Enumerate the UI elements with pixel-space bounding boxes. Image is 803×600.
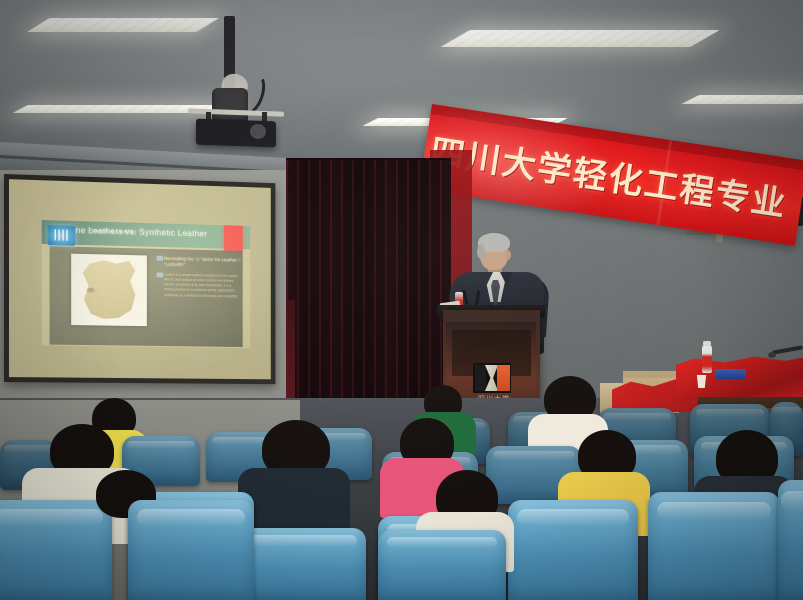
auditorium-seat <box>128 500 254 600</box>
slide-bullet-icon <box>157 273 163 278</box>
blue-box <box>715 369 746 379</box>
bottle-cap <box>703 341 711 346</box>
microphone-head-icon <box>476 284 485 291</box>
leather-hide-mark <box>87 288 95 293</box>
water-bottle <box>702 345 712 373</box>
auditorium-seat <box>648 492 780 600</box>
speaker-hair-side <box>477 244 485 259</box>
slide-subtitle: Promoting Leather <box>88 228 136 235</box>
leather-hide-image <box>71 253 147 326</box>
ceiling-light-icon <box>681 95 803 104</box>
presentation-slide: Genuine Leathers vs. Synthetic Leather P… <box>41 220 250 349</box>
microphone-head-icon <box>768 352 776 358</box>
slide-body-text: Leather is a unique material designed by… <box>164 272 240 299</box>
auditorium-seat <box>0 500 112 600</box>
slide-accent-block <box>224 225 242 251</box>
lecture-hall-photo: 四川大学轻化工程专业 “卓越 Genuine Leathers vs. Synt… <box>0 0 803 600</box>
logo-orange-bar <box>497 365 510 391</box>
auditorium-seat <box>778 480 803 600</box>
projector-lens-icon <box>250 124 266 139</box>
projection-screen: Genuine Leathers vs. Synthetic Leather P… <box>4 174 275 384</box>
ceiling-light-icon <box>27 18 219 32</box>
auditorium-seat <box>236 528 366 600</box>
ceiling-light-icon <box>440 30 719 47</box>
cardboard-box-flap <box>623 371 679 378</box>
stage-curtain <box>286 160 451 415</box>
auditorium-seat <box>378 530 506 600</box>
microphone-head-icon <box>458 282 468 290</box>
slide-bullet-icon <box>157 256 163 261</box>
auditorium-seat <box>508 500 638 600</box>
slide-callout-heading: Recreating the "L" factor for Leather = … <box>164 255 242 270</box>
logo-black-bar <box>475 365 486 391</box>
speaker-ear <box>505 250 511 260</box>
blue-graph-icon <box>48 225 76 246</box>
screen-surface: Genuine Leathers vs. Synthetic Leather P… <box>9 179 271 379</box>
